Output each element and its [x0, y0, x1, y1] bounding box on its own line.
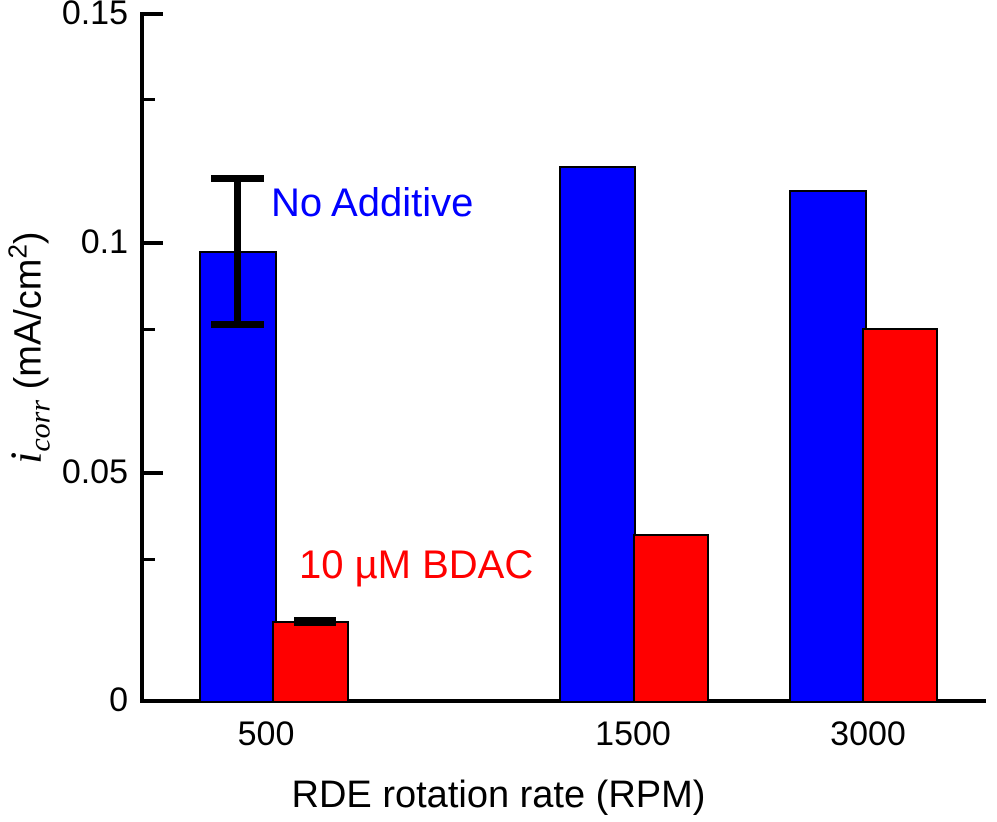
x-tick-label-3000: 3000 — [830, 717, 906, 751]
bar-bdac-500[interactable] — [272, 621, 349, 703]
legend-label-no-additive: No Additive — [271, 183, 473, 223]
y-axis-title-units-close: ) — [8, 231, 50, 244]
y-tick-0.15 — [144, 12, 163, 16]
y-axis-line — [140, 12, 144, 703]
y-tick-minor-0.025 — [144, 558, 155, 561]
y-axis-title-superscript: 2 — [2, 244, 32, 258]
errorbar-line-no-additive-500 — [234, 178, 241, 326]
y-tick-0 — [144, 699, 163, 703]
y-axis-title: icorr (mA/cm2) — [4, 18, 55, 678]
errorbar-cap-bottom-no-additive-500 — [211, 321, 264, 328]
y-axis-title-units: (mA/cm — [8, 259, 50, 400]
y-tick-0.1 — [144, 241, 163, 245]
x-tick-label-500: 500 — [238, 717, 295, 751]
bar-no-additive-1500[interactable] — [559, 166, 636, 703]
errorbar-cap-top-bdac-500 — [294, 617, 336, 626]
bar-no-additive-3000[interactable] — [789, 190, 867, 703]
x-tick-label-1500: 1500 — [595, 717, 671, 751]
y-tick-minor-0.075 — [144, 328, 155, 331]
y-tick-label-0: 0 — [8, 683, 128, 717]
y-tick-0.05 — [144, 471, 163, 475]
chart-figure: 0.15 0.1 0.05 0 500 1500 3000 No Additiv… — [0, 0, 997, 822]
bar-bdac-1500[interactable] — [633, 534, 709, 703]
y-tick-minor-0.125 — [144, 98, 155, 101]
x-axis-title: RDE rotation rate (RPM) — [0, 776, 997, 814]
errorbar-cap-top-no-additive-500 — [211, 175, 264, 182]
bar-bdac-3000[interactable] — [862, 328, 938, 703]
y-axis-title-symbol: i — [2, 452, 51, 464]
y-axis-title-subscript: corr — [24, 400, 57, 452]
legend-label-bdac: 10 µM BDAC — [299, 545, 533, 585]
